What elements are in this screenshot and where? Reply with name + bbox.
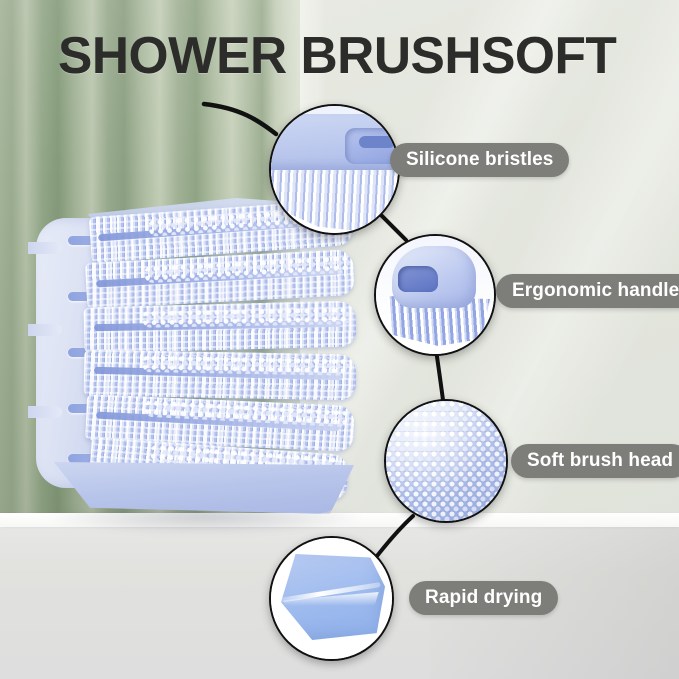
- bristle-bead-row: [142, 306, 352, 328]
- callout-label-text: Ergonomic handle: [512, 280, 679, 302]
- callout-bubble-silicone-bristles: [269, 104, 400, 235]
- product-bottom-edge: [54, 462, 354, 514]
- callout-label-ergonomic-handle: Ergonomic handle: [496, 274, 679, 308]
- bristle-bead-row: [142, 354, 352, 376]
- product-infographic: SHOWER BRUSHSOFT: [0, 0, 679, 679]
- handle-notch: [28, 242, 62, 254]
- callout-label-silicone-bristles: Silicone bristles: [390, 143, 569, 177]
- callout-bubble-soft-brush-head: [384, 399, 508, 523]
- page-title: SHOWER BRUSHSOFT: [58, 26, 632, 86]
- callout-label-text: Silicone bristles: [406, 149, 553, 171]
- callout-label-soft-brush-head: Soft brush head: [511, 444, 679, 478]
- handle-loop-opening: [359, 136, 395, 148]
- handle-notch: [28, 406, 62, 418]
- handle-grip-hole: [398, 266, 438, 292]
- callout-bubble-ergonomic-handle: [374, 234, 496, 356]
- callout-label-text: Rapid drying: [425, 587, 542, 609]
- callout-label-rapid-drying: Rapid drying: [409, 581, 558, 615]
- handle-notch: [28, 324, 62, 336]
- bubble-sheen: [386, 401, 506, 521]
- product-image-shower-brush: [28, 196, 358, 526]
- callout-bubble-rapid-drying: [269, 536, 394, 661]
- callout-label-text: Soft brush head: [527, 450, 673, 472]
